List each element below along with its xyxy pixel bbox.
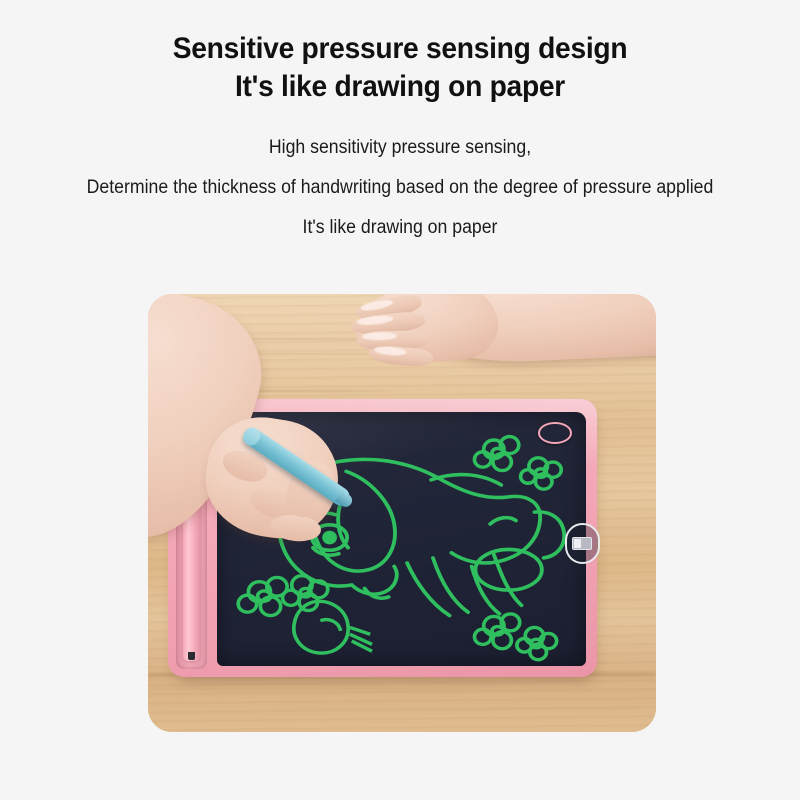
subline-group: High sensitivity pressure sensing, Deter… (0, 128, 800, 248)
subline-2: Determine the thickness of handwriting b… (28, 168, 772, 208)
product-photo (148, 294, 656, 732)
header-text-block: Sensitive pressure sensing design It's l… (0, 30, 800, 248)
stylus-tip (188, 652, 194, 660)
erase-icon (572, 537, 592, 550)
subline-1: High sensitivity pressure sensing, (28, 128, 772, 168)
page-root: Sensitive pressure sensing design It's l… (0, 0, 800, 800)
headline-line-1: Sensitive pressure sensing design (24, 30, 776, 68)
subline-3: It's like drawing on paper (28, 208, 772, 248)
headline-line-2: It's like drawing on paper (24, 68, 776, 106)
erase-button[interactable] (565, 523, 600, 565)
lock-indicator-icon (538, 422, 572, 444)
